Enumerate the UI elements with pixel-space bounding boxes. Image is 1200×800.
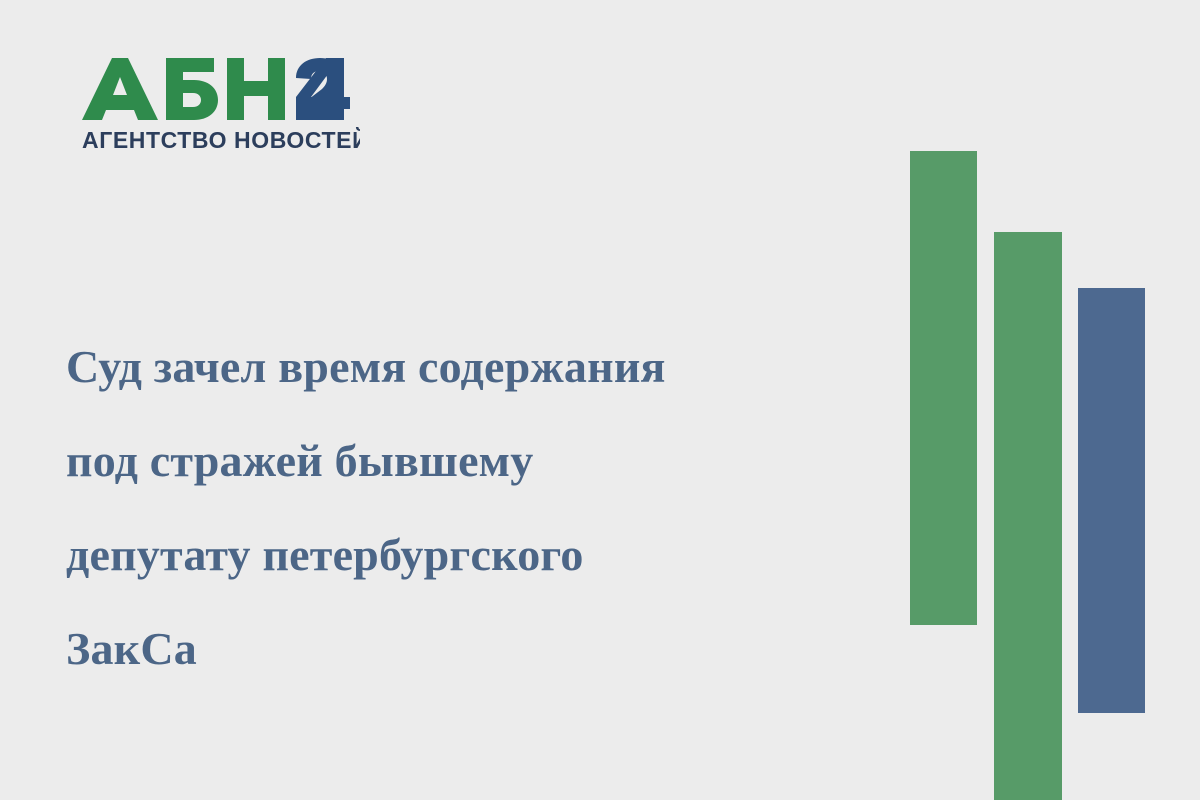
- logo-tagline-text: АГЕНТСТВО НОВОСТЕЙ: [82, 127, 360, 153]
- headline-line: под стражей бывшему: [66, 435, 533, 486]
- logo-mark-icon: [82, 58, 354, 120]
- headline-line: депутату петербургского: [66, 529, 584, 580]
- headline-line: ЗакСа: [66, 623, 197, 674]
- headline-line: Суд зачел время содержания: [66, 341, 666, 392]
- decorative-bar-1: [910, 151, 977, 625]
- decorative-bar-3: [1078, 288, 1145, 713]
- headline: Суд зачел время содержания под стражей б…: [66, 320, 866, 696]
- abn24-logo[interactable]: АГЕНТСТВО НОВОСТЕЙ: [82, 58, 372, 153]
- news-card: АГЕНТСТВО НОВОСТЕЙ Суд зачел время содер…: [0, 0, 1200, 800]
- decorative-bar-2: [994, 232, 1062, 800]
- svg-text:АГЕНТСТВО НОВОСТЕЙ: АГЕНТСТВО НОВОСТЕЙ: [82, 127, 360, 153]
